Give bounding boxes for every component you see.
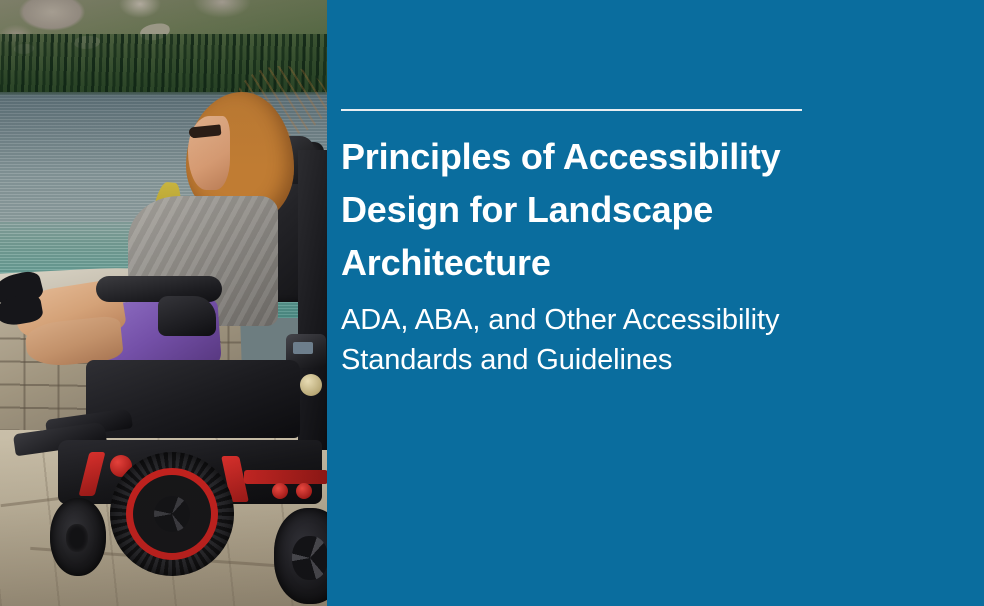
wheelchair-red-accent bbox=[244, 470, 327, 484]
slide-canvas: Principles of Accessibility Design for L… bbox=[0, 0, 984, 606]
wheelchair-badge bbox=[300, 374, 322, 396]
wheelchair-taillight bbox=[272, 483, 288, 499]
page-subtitle: ADA, ABA, and Other Accessibility Standa… bbox=[341, 300, 901, 380]
wheelchair-drive-wheel bbox=[110, 452, 234, 576]
title-panel: Principles of Accessibility Design for L… bbox=[327, 0, 984, 606]
wheelchair-arm-support bbox=[158, 296, 216, 336]
title-divider-rule bbox=[341, 109, 802, 111]
wheelchair-rear-caster bbox=[274, 508, 327, 604]
wheelchair-taillight bbox=[296, 483, 312, 499]
page-title: Principles of Accessibility Design for L… bbox=[341, 130, 881, 289]
wheelchair-front-caster bbox=[50, 498, 106, 576]
wheelchair-side-panel bbox=[298, 150, 327, 450]
hero-photo bbox=[0, 0, 327, 606]
